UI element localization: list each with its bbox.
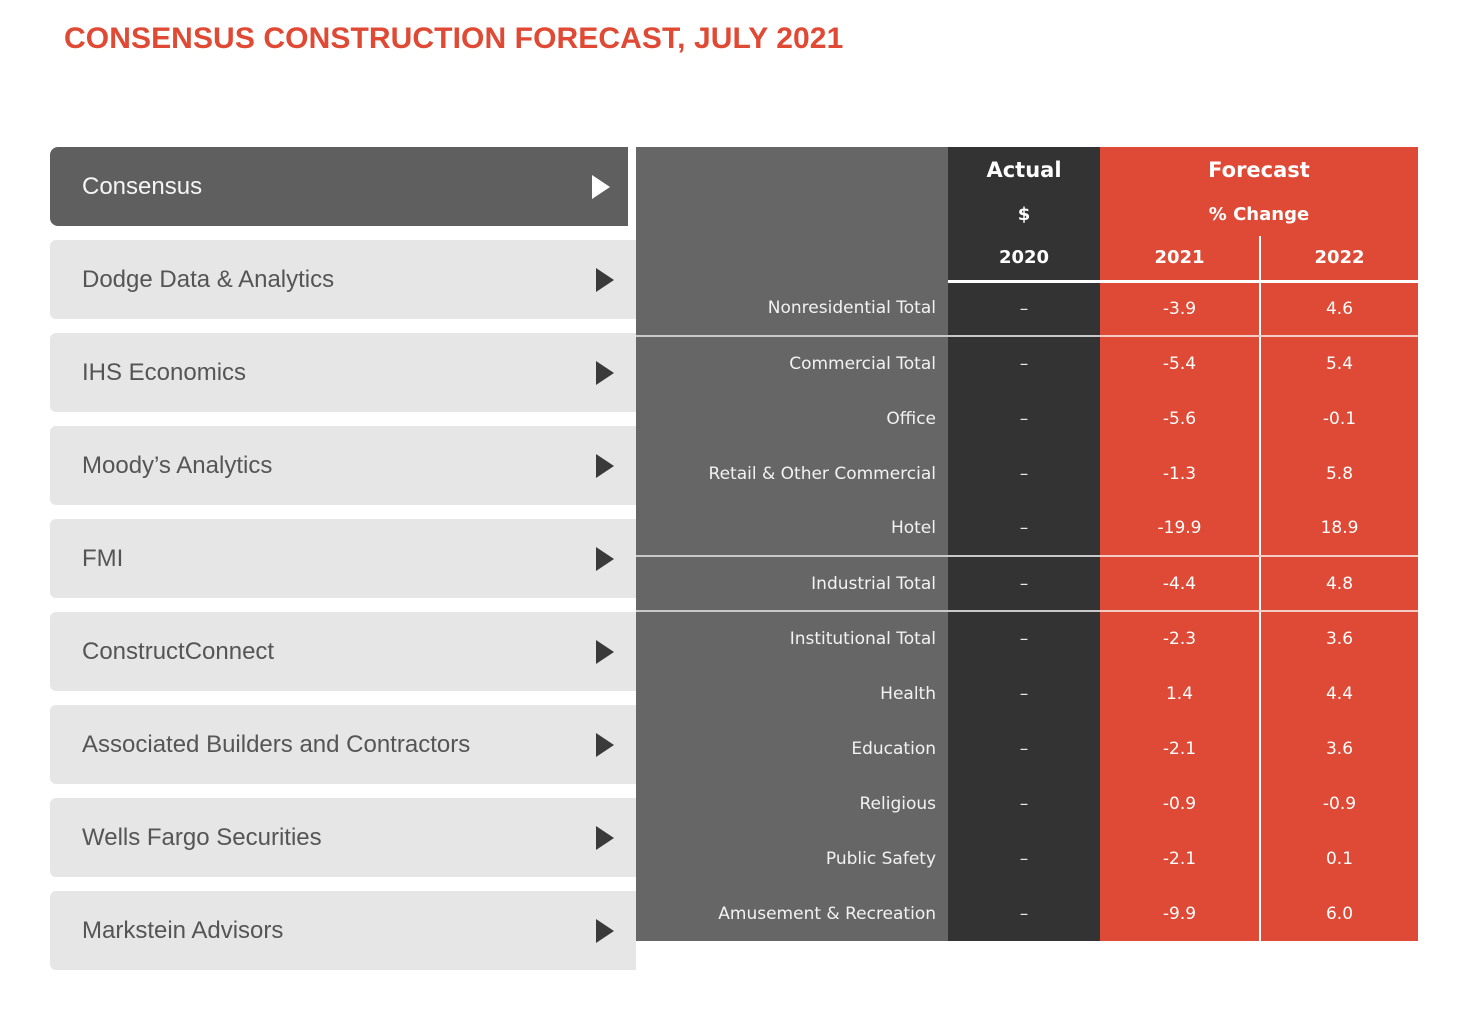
chevron-right-icon xyxy=(596,547,614,571)
table-row: Religious–-0.9-0.9 xyxy=(636,776,1418,831)
cell-actual-2020: – xyxy=(948,281,1100,336)
source-sidebar: ConsensusDodge Data & AnalyticsIHS Econo… xyxy=(50,147,636,987)
forecast-page: CONSENSUS CONSTRUCTION FORECAST, JULY 20… xyxy=(0,0,1472,1010)
cell-forecast-2022: 5.8 xyxy=(1260,446,1418,501)
chevron-right-icon xyxy=(596,919,614,943)
cell-forecast-2021: -5.6 xyxy=(1100,391,1260,446)
table-row: Education–-2.13.6 xyxy=(636,721,1418,776)
cell-actual-2020: – xyxy=(948,556,1100,611)
cell-forecast-2022: 4.6 xyxy=(1260,281,1418,336)
cell-forecast-2021: 1.4 xyxy=(1100,666,1260,721)
sidebar-item-label: Wells Fargo Securities xyxy=(50,824,322,852)
table-row: Hotel–-19.918.9 xyxy=(636,501,1418,556)
sidebar-item-dodge-data-analytics[interactable]: Dodge Data & Analytics xyxy=(50,240,636,319)
cell-forecast-2022: -0.1 xyxy=(1260,391,1418,446)
row-label: Hotel xyxy=(636,501,948,556)
cell-actual-2020: – xyxy=(948,721,1100,776)
chevron-right-icon xyxy=(596,268,614,292)
cell-forecast-2021: -2.1 xyxy=(1100,721,1260,776)
header-forecast-year-2022: 2022 xyxy=(1260,236,1418,281)
cell-actual-2020: – xyxy=(948,886,1100,941)
cell-forecast-2021: -4.4 xyxy=(1100,556,1260,611)
table-row: Retail & Other Commercial–-1.35.8 xyxy=(636,446,1418,501)
sidebar-item-constructconnect[interactable]: ConstructConnect xyxy=(50,612,636,691)
cell-forecast-2021: -3.9 xyxy=(1100,281,1260,336)
sidebar-item-label: Moody’s Analytics xyxy=(50,452,272,480)
sidebar-item-label: Associated Builders and Contractors xyxy=(50,731,470,759)
cell-forecast-2021: -2.3 xyxy=(1100,611,1260,666)
sidebar-item-consensus[interactable]: Consensus xyxy=(50,147,628,226)
row-label: Public Safety xyxy=(636,831,948,886)
chevron-right-icon xyxy=(596,640,614,664)
cell-forecast-2021: -1.3 xyxy=(1100,446,1260,501)
row-label: Retail & Other Commercial xyxy=(636,446,948,501)
row-label: Office xyxy=(636,391,948,446)
table-row: Institutional Total–-2.33.6 xyxy=(636,611,1418,666)
sidebar-item-markstein-advisors[interactable]: Markstein Advisors xyxy=(50,891,636,970)
cell-forecast-2021: -2.1 xyxy=(1100,831,1260,886)
cell-forecast-2022: 6.0 xyxy=(1260,886,1418,941)
cell-actual-2020: – xyxy=(948,831,1100,886)
chevron-right-icon xyxy=(596,733,614,757)
row-label: Nonresidential Total xyxy=(636,281,948,336)
table-row: Nonresidential Total–-3.94.6 xyxy=(636,281,1418,336)
header-actual-unit: $ xyxy=(948,192,1100,236)
table-body: Nonresidential Total–-3.94.6Commercial T… xyxy=(636,281,1418,941)
sidebar-item-label: ConstructConnect xyxy=(50,638,274,666)
cell-forecast-2022: 4.4 xyxy=(1260,666,1418,721)
row-label: Religious xyxy=(636,776,948,831)
table-row: Public Safety–-2.10.1 xyxy=(636,831,1418,886)
chevron-right-icon xyxy=(596,361,614,385)
table-row: Commercial Total–-5.45.4 xyxy=(636,336,1418,391)
row-label: Commercial Total xyxy=(636,336,948,391)
row-label: Amusement & Recreation xyxy=(636,886,948,941)
header-spacer-3 xyxy=(636,236,948,281)
cell-actual-2020: – xyxy=(948,501,1100,556)
header-forecast-unit: % Change xyxy=(1100,192,1418,236)
row-label: Industrial Total xyxy=(636,556,948,611)
header-actual-group: Actual xyxy=(948,147,1100,192)
table-row: Office–-5.6-0.1 xyxy=(636,391,1418,446)
cell-actual-2020: – xyxy=(948,776,1100,831)
cell-forecast-2022: 5.4 xyxy=(1260,336,1418,391)
cell-forecast-2021: -0.9 xyxy=(1100,776,1260,831)
sidebar-item-moody-s-analytics[interactable]: Moody’s Analytics xyxy=(50,426,636,505)
cell-forecast-2022: 3.6 xyxy=(1260,611,1418,666)
cell-forecast-2021: -5.4 xyxy=(1100,336,1260,391)
chevron-right-icon xyxy=(596,826,614,850)
cell-forecast-2022: -0.9 xyxy=(1260,776,1418,831)
cell-forecast-2022: 0.1 xyxy=(1260,831,1418,886)
header-spacer xyxy=(636,147,948,192)
sidebar-item-label: Dodge Data & Analytics xyxy=(50,266,334,294)
cell-actual-2020: – xyxy=(948,336,1100,391)
cell-actual-2020: – xyxy=(948,391,1100,446)
sidebar-item-label: Consensus xyxy=(50,173,202,201)
row-label: Institutional Total xyxy=(636,611,948,666)
table-row: Industrial Total–-4.44.8 xyxy=(636,556,1418,611)
page-title: CONSENSUS CONSTRUCTION FORECAST, JULY 20… xyxy=(64,22,843,56)
header-forecast-group: Forecast xyxy=(1100,147,1418,192)
header-actual-year: 2020 xyxy=(948,236,1100,281)
row-label: Health xyxy=(636,666,948,721)
forecast-table: Actual Forecast $ % Change 2020 2021 202… xyxy=(636,147,1418,935)
header-spacer-2 xyxy=(636,192,948,236)
chevron-right-icon xyxy=(596,454,614,478)
cell-forecast-2021: -9.9 xyxy=(1100,886,1260,941)
header-forecast-year-2021: 2021 xyxy=(1100,236,1260,281)
cell-actual-2020: – xyxy=(948,446,1100,501)
cell-forecast-2022: 18.9 xyxy=(1260,501,1418,556)
table-row: Health–1.44.4 xyxy=(636,666,1418,721)
table-header: Actual Forecast $ % Change 2020 2021 202… xyxy=(636,147,1418,281)
sidebar-item-ihs-economics[interactable]: IHS Economics xyxy=(50,333,636,412)
cell-forecast-2022: 4.8 xyxy=(1260,556,1418,611)
sidebar-item-label: FMI xyxy=(50,545,123,573)
cell-actual-2020: – xyxy=(948,666,1100,721)
chevron-right-icon xyxy=(592,175,610,199)
sidebar-item-label: IHS Economics xyxy=(50,359,246,387)
table-row: Amusement & Recreation–-9.96.0 xyxy=(636,886,1418,941)
cell-forecast-2022: 3.6 xyxy=(1260,721,1418,776)
cell-actual-2020: – xyxy=(948,611,1100,666)
sidebar-item-fmi[interactable]: FMI xyxy=(50,519,636,598)
sidebar-item-associated-builders-and-contractors[interactable]: Associated Builders and Contractors xyxy=(50,705,636,784)
row-label: Education xyxy=(636,721,948,776)
sidebar-item-label: Markstein Advisors xyxy=(50,917,283,945)
forecast-table-grid: Actual Forecast $ % Change 2020 2021 202… xyxy=(636,147,1418,941)
sidebar-item-wells-fargo-securities[interactable]: Wells Fargo Securities xyxy=(50,798,636,877)
cell-forecast-2021: -19.9 xyxy=(1100,501,1260,556)
